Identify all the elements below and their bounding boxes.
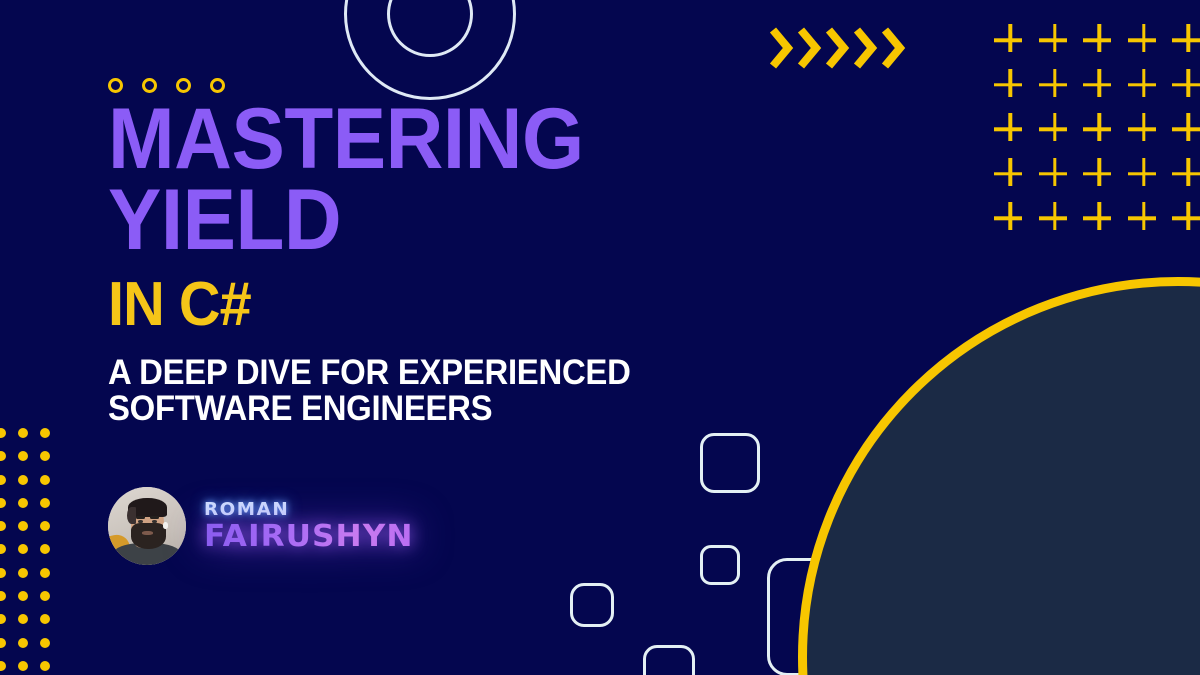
dot-icon: [18, 428, 28, 438]
dot-icon: [0, 614, 6, 624]
avatar-eye-left: [138, 520, 143, 523]
author-block: ROMAN FAIRUSHYN: [108, 487, 405, 565]
dot-icon: [40, 521, 50, 531]
dot-icon: [18, 638, 28, 648]
chevron-right-icon: [796, 26, 822, 70]
code-line: yield return line;: [798, 653, 1200, 675]
chevrons-decoration: [768, 26, 906, 70]
dot-icon: [18, 591, 28, 601]
dot-icon: [18, 451, 28, 461]
dot-icon: [40, 428, 50, 438]
dot-icon: [40, 661, 50, 671]
plus-icon: [988, 107, 1033, 152]
plus-icon: [988, 196, 1033, 241]
code-snippet-text: numerable<string> ReadLa ing (var file =…: [798, 366, 1200, 675]
plus-icon: [1166, 63, 1200, 108]
code-line: {: [798, 612, 1200, 653]
subtitle-text: A DEEP DIVE FOR EXPERIENCED SOFTWARE ENG…: [108, 355, 710, 426]
dot-icon: [18, 521, 28, 531]
title-line-in-csharp: IN C#: [108, 276, 703, 333]
plus-icon: [1033, 18, 1078, 63]
dot-icon: [40, 451, 50, 461]
dot-icon: [0, 521, 6, 531]
dot-icon: [0, 591, 6, 601]
dot-icon: [0, 544, 6, 554]
plus-icon: [1033, 152, 1078, 197]
chevron-right-icon: [852, 26, 878, 70]
dot-icon: [18, 614, 28, 624]
plus-icon: [1122, 18, 1167, 63]
avatar-earbud: [163, 522, 168, 529]
plus-icon: [1077, 152, 1122, 197]
code-line: string line;: [798, 530, 1200, 571]
code-line: numerable<string> ReadLa: [798, 366, 1200, 407]
dot-icon: [18, 544, 28, 554]
plus-icon: [1077, 63, 1122, 108]
dot-icon: [40, 544, 50, 554]
plus-grid-decoration: [988, 18, 1200, 241]
plus-icon: [1077, 196, 1122, 241]
dot-icon: [0, 475, 6, 485]
chevron-right-icon: [880, 26, 906, 70]
ring-outer-icon: [344, 0, 516, 100]
dot-icon: [40, 638, 50, 648]
plus-icon: [1033, 63, 1078, 108]
avatar: [108, 487, 186, 565]
title-line-mastering: MASTERING: [108, 100, 703, 179]
dot-icon: [0, 498, 6, 508]
ring-inner-icon: [387, 0, 473, 57]
author-first-name: ROMAN: [204, 501, 409, 519]
avatar-eyebrow-left: [136, 516, 145, 519]
rounded-square-icon: [643, 645, 695, 675]
code-line: [798, 407, 1200, 448]
author-name: ROMAN FAIRUSHYN: [204, 501, 405, 552]
title-line-yield: YIELD: [108, 181, 703, 260]
dot-grid-decoration: [0, 428, 62, 675]
dot-icon: [0, 661, 6, 671]
rounded-square-icon: [700, 545, 740, 585]
avatar-hair-fade: [127, 507, 136, 524]
dot-icon: [40, 498, 50, 508]
rounded-square-icon: [570, 583, 614, 627]
plus-icon: [1166, 152, 1200, 197]
dot-icon: [18, 661, 28, 671]
rounded-square-icon: [700, 433, 760, 493]
dot-icon: [40, 568, 50, 578]
dot-icon: [18, 568, 28, 578]
code-line: ing (var file = new StreamR: [798, 448, 1200, 489]
dot-icon: [40, 614, 50, 624]
plus-icon: [1166, 196, 1200, 241]
plus-icon: [1122, 152, 1167, 197]
plus-icon: [1122, 107, 1167, 152]
plus-icon: [1077, 107, 1122, 152]
code-line: while ((line = file.ReadL: [798, 571, 1200, 612]
chevron-right-icon: [768, 26, 794, 70]
plus-icon: [988, 152, 1033, 197]
plus-icon: [988, 18, 1033, 63]
plus-icon: [1166, 18, 1200, 63]
avatar-beard: [131, 523, 166, 549]
code-snippet-circle: numerable<string> ReadLa ing (var file =…: [798, 277, 1200, 675]
dot-icon: [40, 475, 50, 485]
dot-icon: [0, 428, 6, 438]
plus-icon: [1077, 18, 1122, 63]
plus-icon: [1122, 196, 1167, 241]
dot-icon: [18, 475, 28, 485]
dot-icon: [0, 638, 6, 648]
plus-icon: [1122, 63, 1167, 108]
title-block: MASTERING YIELD IN C# A DEEP DIVE FOR EX…: [108, 100, 748, 427]
avatar-eyebrow-right: [150, 516, 159, 519]
avatar-eye-right: [152, 520, 157, 523]
code-line: [798, 489, 1200, 530]
dot-icon: [18, 498, 28, 508]
chevron-right-icon: [824, 26, 850, 70]
author-last-name: FAIRUSHYN: [204, 522, 413, 552]
plus-icon: [988, 63, 1033, 108]
plus-icon: [1033, 196, 1078, 241]
dot-icon: [0, 451, 6, 461]
poster-canvas: numerable<string> ReadLa ing (var file =…: [0, 0, 1200, 675]
plus-icon: [1033, 107, 1078, 152]
dot-icon: [40, 591, 50, 601]
avatar-mouth: [142, 531, 153, 535]
dot-icon: [0, 568, 6, 578]
plus-icon: [1166, 107, 1200, 152]
